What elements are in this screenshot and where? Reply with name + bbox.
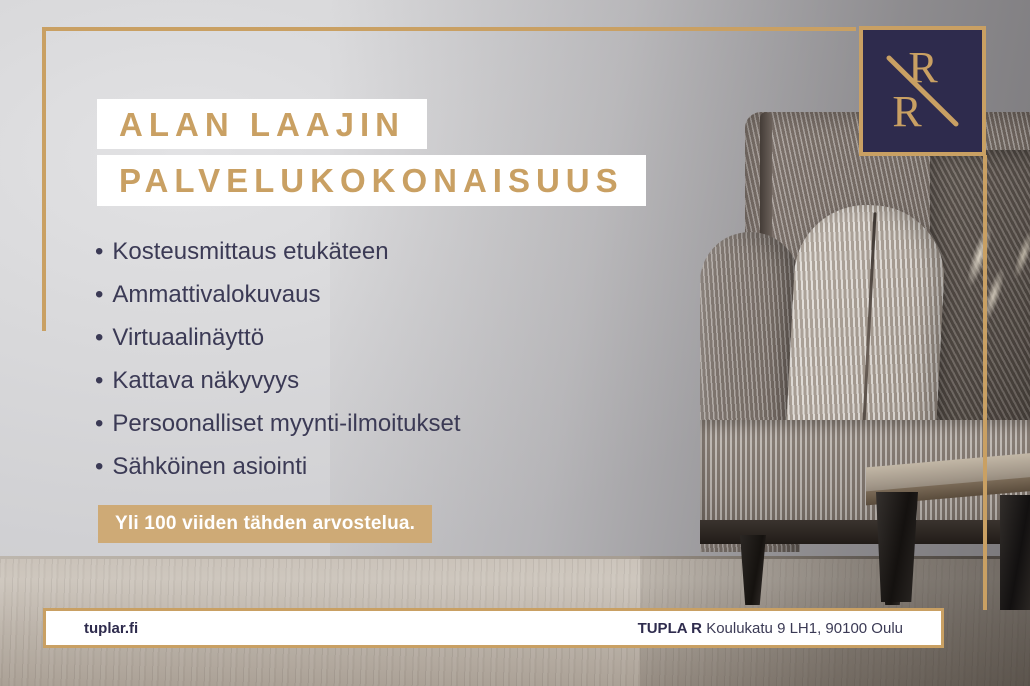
bullet-marker-icon: • [95,283,103,307]
address-text: Koulukatu 9 LH1, 90100 Oulu [706,620,903,637]
tupla-r-logo: R R [859,26,986,156]
bullet-marker-icon: • [95,326,103,350]
list-item-label: Kosteusmittaus etukäteen [112,240,388,264]
list-item-label: Virtuaalinäyttö [112,326,264,350]
list-item-label: Ammattivalokuvaus [112,283,320,307]
coffee-table-leg [1000,495,1030,610]
list-item-label: Kattava näkyvyys [112,369,299,393]
list-item-label: Sähköinen asiointi [112,455,307,479]
bullet-marker-icon: • [95,455,103,479]
company-name: TUPLA R [638,620,702,637]
headline-line-1-text: ALAN LAAJIN [119,108,405,141]
bullet-marker-icon: • [95,412,103,436]
website-link[interactable]: tuplar.fi [84,620,138,637]
coffee-table-leg [876,492,918,602]
reviews-badge-text: Yli 100 viiden tähden arvostelua. [115,513,415,535]
footer-bar: tuplar.fi TUPLA R Koulukatu 9 LH1, 90100… [43,608,944,648]
headline-line-1: ALAN LAAJIN [97,99,427,149]
headline-line-2: PALVELUKOKONAISUUS [97,155,646,206]
gold-frame-top [42,27,856,31]
svg-text:R: R [908,43,938,92]
svg-text:R: R [892,87,922,136]
company-address: TUPLA R Koulukatu 9 LH1, 90100 Oulu [638,620,903,637]
list-item: • Virtuaalinäyttö [95,326,655,350]
list-item: • Kosteusmittaus etukäteen [95,240,655,264]
list-item: • Ammattivalokuvaus [95,283,655,307]
bullet-marker-icon: • [95,369,103,393]
reviews-badge: Yli 100 viiden tähden arvostelua. [98,505,432,543]
advertisement-banner: R R ALAN LAAJIN PALVELUKOKONAISUUS • Kos… [0,0,1030,686]
bullet-marker-icon: • [95,240,103,264]
list-item: • Kattava näkyvyys [95,369,655,393]
list-item: • Sähköinen asiointi [95,455,655,479]
service-list: • Kosteusmittaus etukäteen • Ammattivalo… [95,240,655,498]
list-item-label: Persoonalliset myynti-ilmoitukset [112,412,460,436]
headline-line-2-text: PALVELUKOKONAISUUS [119,164,624,197]
gold-frame-left [42,27,46,331]
list-item: • Persoonalliset myynti-ilmoitukset [95,412,655,436]
gold-frame-right [983,155,987,610]
